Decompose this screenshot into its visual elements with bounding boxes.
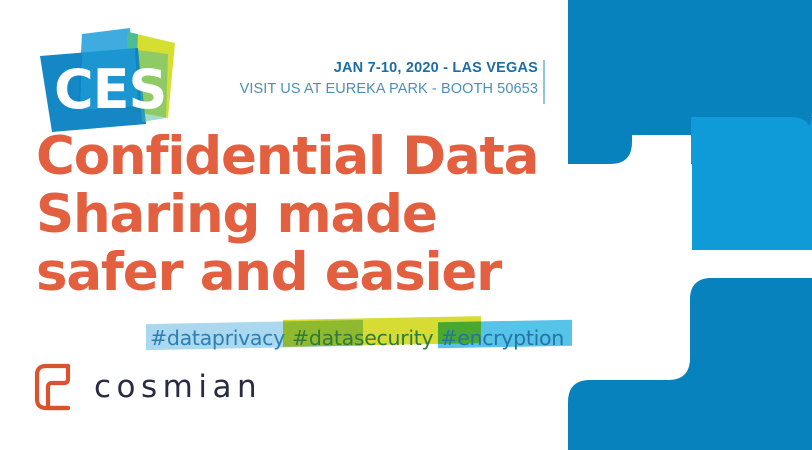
event-info: JAN 7-10, 2020 - LAS VEGAS VISIT US AT E… xyxy=(226,58,538,100)
hashtag-row: #dataprivacy#datasecurity#encryption xyxy=(0,312,812,360)
ces-logo-svg: CES ® xyxy=(34,26,180,134)
headline-line-3: safer and easier xyxy=(36,244,596,302)
ces-logo: CES ® xyxy=(34,26,180,134)
event-booth: VISIT US AT EUREKA PARK - BOOTH 50653 xyxy=(226,78,538,100)
shape-top-right-deep-blue xyxy=(568,0,812,157)
event-dates: JAN 7-10, 2020 - LAS VEGAS xyxy=(226,58,538,78)
shape-top-right-light-blue xyxy=(692,117,812,250)
company-logo: cosmian xyxy=(32,358,262,416)
hashtag-encryption: #encryption xyxy=(440,326,564,350)
hashtag-datasecurity: #datasecurity xyxy=(292,326,433,350)
shape-top-right-light-blue-rect xyxy=(692,117,812,163)
shape-bottom-right-deep-blue xyxy=(568,278,812,450)
headline-line-1: Confidential Data xyxy=(36,128,596,186)
poster-canvas: CES ® JAN 7-10, 2020 - LAS VEGAS VISIT U… xyxy=(0,0,812,450)
hashtag-labels: #dataprivacy#datasecurity#encryption xyxy=(150,326,564,350)
cosmian-mark-icon xyxy=(32,361,78,413)
shape-top-right-accent xyxy=(691,117,812,164)
shape-top-right-composite xyxy=(568,0,812,164)
cosmian-wordmark: cosmian xyxy=(94,372,262,403)
headline-line-2: Sharing made xyxy=(36,186,596,244)
hashtag-dataprivacy: #dataprivacy xyxy=(150,326,285,350)
shape-bottom-right-accent xyxy=(690,278,812,300)
ces-trademark-icon: ® xyxy=(147,66,158,79)
event-info-divider xyxy=(543,60,545,104)
page-title: Confidential Data Sharing made safer and… xyxy=(36,128,596,302)
